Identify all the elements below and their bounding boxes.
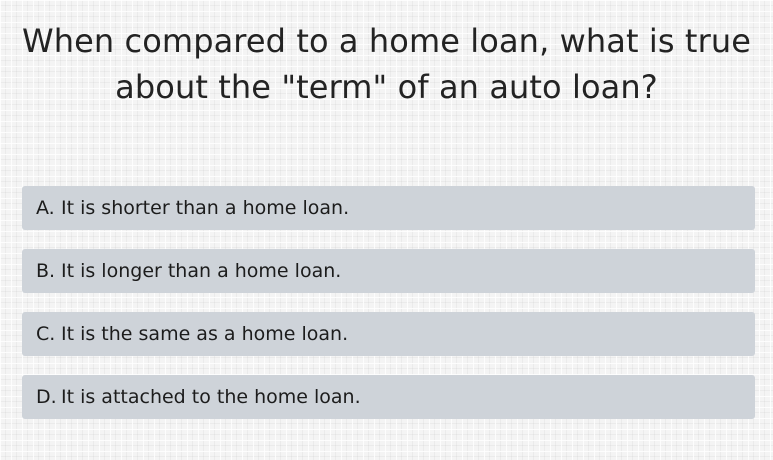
- question-text: When compared to a home loan, what is tr…: [0, 0, 773, 111]
- choice-letter-b: B.: [36, 260, 61, 282]
- choice-text-a: It is shorter than a home loan.: [61, 197, 349, 219]
- choice-letter-c: C.: [36, 323, 61, 345]
- answer-choice-b[interactable]: B. It is longer than a home loan.: [22, 249, 755, 293]
- choice-letter-a: A.: [36, 197, 61, 219]
- answer-choice-a[interactable]: A. It is shorter than a home loan.: [22, 186, 755, 230]
- choice-text-d: It is attached to the home loan.: [61, 386, 361, 408]
- answer-choice-d[interactable]: D. It is attached to the home loan.: [22, 375, 755, 419]
- choice-text-c: It is the same as a home loan.: [61, 323, 348, 345]
- choice-letter-d: D.: [36, 386, 61, 408]
- quiz-slide: When compared to a home loan, what is tr…: [0, 0, 773, 460]
- choice-text-b: It is longer than a home loan.: [61, 260, 341, 282]
- answer-choices-list: A. It is shorter than a home loan. B. It…: [22, 186, 755, 438]
- answer-choice-c[interactable]: C. It is the same as a home loan.: [22, 312, 755, 356]
